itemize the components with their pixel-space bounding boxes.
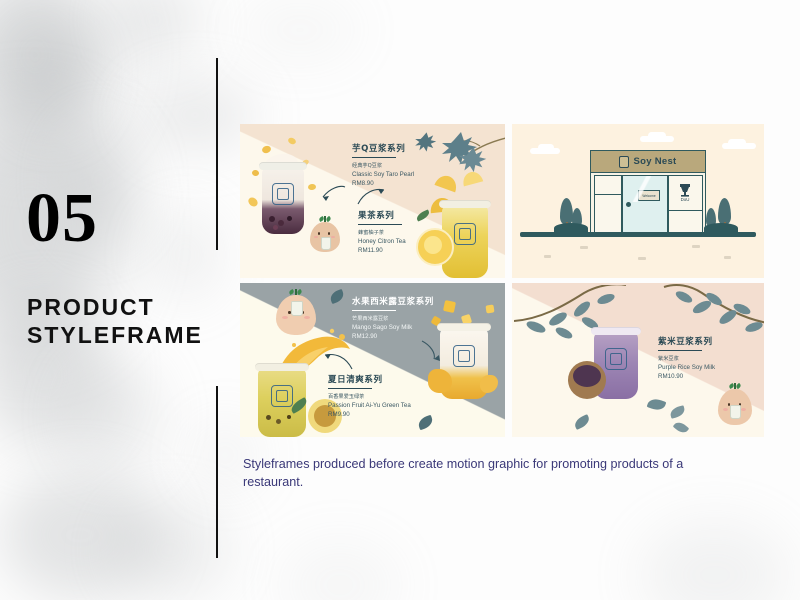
rice-bowl-inner xyxy=(573,365,601,387)
passion-seed-deco xyxy=(266,415,271,420)
pavement-tile xyxy=(544,255,551,258)
door-glass-glare xyxy=(624,176,664,202)
pavement-tile xyxy=(638,257,646,260)
page-title-line-1: PRODUCT xyxy=(27,293,203,321)
passion-seed-deco xyxy=(287,415,291,419)
product-text-block: 水果西米露豆浆系列 芒果西米露豆浆 Mango Sago Soy Milk RM… xyxy=(352,295,434,341)
pavement-tile xyxy=(724,256,731,259)
rail-line-top xyxy=(216,58,218,250)
text-rule xyxy=(358,224,402,226)
product-name-en: Classic Soy Taro Pearl xyxy=(352,170,414,179)
mascot-character xyxy=(718,383,752,425)
product-name-cn: 蜂蜜柚子茶 xyxy=(358,229,406,237)
arrow-curve-left xyxy=(318,184,348,206)
product-name-en: Passion Fruit Ai-Yu Green Tea xyxy=(328,401,411,410)
series-name-cn: 紫米豆浆系列 xyxy=(658,335,715,347)
product-text-block: 紫米豆浆系列 紫米豆浆 Purple Rice Soy Milk RM10.90 xyxy=(658,335,715,381)
bush-deco xyxy=(554,223,588,233)
slide-caption: Styleframes produced before create motio… xyxy=(243,455,743,491)
product-price: RM12.90 xyxy=(352,332,434,341)
bush-deco xyxy=(704,223,738,233)
shop-logo-icon xyxy=(619,156,629,168)
menu-poster-icon: DoU xyxy=(677,182,693,202)
shop-name: Soy Nest xyxy=(633,156,676,167)
shop-window-right-lower xyxy=(668,210,703,233)
mango-cube-deco xyxy=(485,304,494,313)
page-title: PRODUCT STYLEFRAME xyxy=(27,293,203,349)
text-rule xyxy=(352,310,396,312)
styleframe-purple-rice[interactable]: 紫米豆浆系列 紫米豆浆 Purple Rice Soy Milk RM10.90 xyxy=(512,283,764,437)
series-name-cn: 夏日清爽系列 xyxy=(328,373,411,385)
rail-line-bottom xyxy=(216,386,218,558)
arrow-curve-left xyxy=(322,351,354,373)
text-rule xyxy=(352,157,396,159)
styleframe-storefront[interactable]: Soy Nest Welcome DoU xyxy=(512,124,764,278)
branch-deco-right xyxy=(658,283,764,339)
pearl-deco xyxy=(269,216,275,222)
pearl-deco xyxy=(287,216,292,221)
maple-branch-deco xyxy=(410,128,505,180)
product-name-en: Honey Citron Tea xyxy=(358,237,406,246)
text-rule xyxy=(328,388,372,390)
product-text-block: 芋Q豆浆系列 经典芋Q豆浆 Classic Soy Taro Pearl RM8… xyxy=(352,142,414,188)
cloud-deco xyxy=(728,139,746,146)
product-name-cn: 百香果爱玉绿茶 xyxy=(328,393,411,401)
product-name-cn: 紫米豆浆 xyxy=(658,355,715,363)
series-name-cn: 水果西米露豆浆系列 xyxy=(352,295,434,307)
lemon-slice-deco xyxy=(424,236,442,254)
slide-canvas: 05 PRODUCT STYLEFRAME xyxy=(0,0,800,600)
passion-seed-deco xyxy=(276,419,281,424)
cloud-deco xyxy=(538,144,554,151)
product-name-en: Purple Rice Soy Milk xyxy=(658,363,715,372)
product-name-cn: 经典芋Q豆浆 xyxy=(352,162,414,170)
mango-chunk-deco xyxy=(428,369,452,393)
pavement-tile xyxy=(692,245,700,248)
series-name-cn: 果茶系列 xyxy=(358,209,406,221)
mascot-character xyxy=(310,216,340,252)
product-price: RM9.90 xyxy=(328,410,411,419)
shop-sign: Soy Nest xyxy=(590,150,706,173)
product-price: RM11.90 xyxy=(358,246,406,255)
mango-cube-deco xyxy=(443,300,456,313)
shop-window-left-lower xyxy=(594,194,622,233)
arrow-curve-right xyxy=(355,186,387,208)
svg-text:DoU: DoU xyxy=(681,197,690,202)
series-name-cn: 芋Q豆浆系列 xyxy=(352,142,414,154)
page-title-line-2: STYLEFRAME xyxy=(27,321,203,349)
product-name-en: Mango Sago Soy Milk xyxy=(352,323,434,332)
shop-window-left xyxy=(594,175,622,195)
cloud-deco xyxy=(648,132,666,139)
door-handle xyxy=(626,202,631,207)
product-text-block: 果茶系列 蜂蜜柚子茶 Honey Citron Tea RM11.90 xyxy=(358,209,406,255)
styleframe-taro-fruit-tea[interactable]: 芋Q豆浆系列 经典芋Q豆浆 Classic Soy Taro Pearl RM8… xyxy=(240,124,505,278)
slide-number: 05 xyxy=(26,184,98,254)
pearl-deco xyxy=(278,220,284,226)
product-name-cn: 芒果西米露豆浆 xyxy=(352,315,434,323)
styleframe-sago-greentea[interactable]: 水果西米露豆浆系列 芒果西米露豆浆 Mango Sago Soy Milk RM… xyxy=(240,283,505,437)
text-rule xyxy=(658,350,702,352)
pavement-tile xyxy=(580,246,588,249)
product-text-block: 夏日清爽系列 百香果爱玉绿茶 Passion Fruit Ai-Yu Green… xyxy=(328,373,411,419)
storefront-scene: Soy Nest Welcome DoU xyxy=(512,124,764,278)
product-price: RM10.90 xyxy=(658,372,715,381)
product-price: RM8.90 xyxy=(352,179,414,188)
pearl-deco xyxy=(273,225,278,230)
